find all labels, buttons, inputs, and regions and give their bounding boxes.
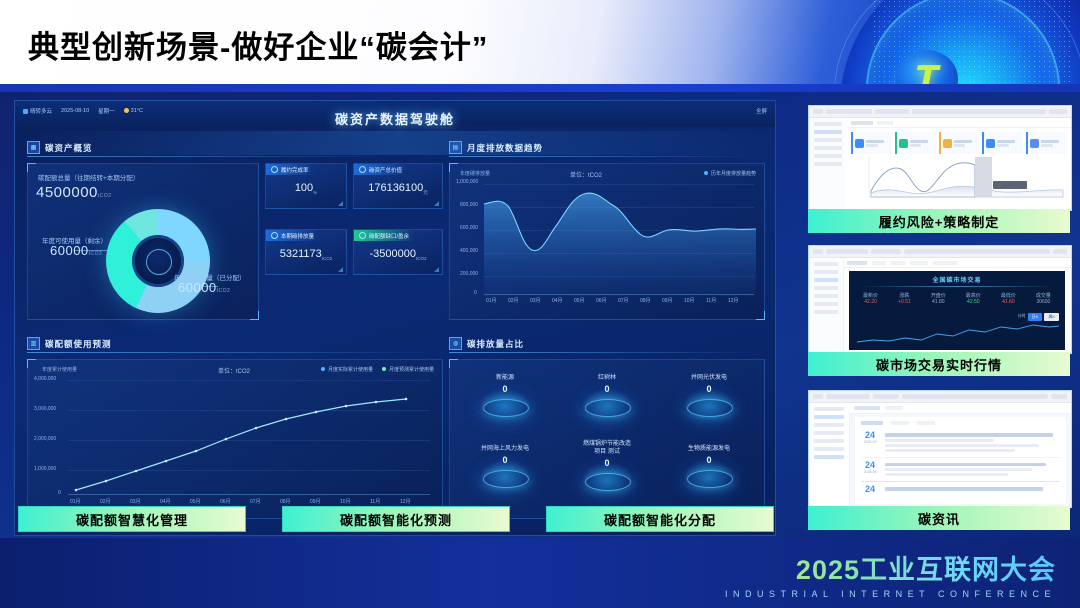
emission-legend: 历年月度排放量趋势 (704, 170, 756, 177)
caption-bar-2: 碳配额智能化分配 (546, 506, 774, 532)
gauge-1[interactable]: 红树林 0 (570, 374, 644, 434)
grid-icon: ▦ (27, 141, 40, 154)
pie-icon: ◍ (449, 337, 462, 350)
quota-left-value: 60000tCO2 (50, 243, 102, 258)
kpi-value-3: -3500000tCO2 (354, 248, 442, 261)
right-caption-news: 碳资讯 (808, 506, 1070, 530)
browser-chrome-market (809, 246, 1071, 258)
news-item[interactable]: 24 2025-08 (861, 428, 1060, 458)
emission-area-path (484, 184, 756, 296)
kpi-tag-0: 履约完成率 (266, 164, 314, 175)
gauge-4[interactable]: 燃煤锅炉节能改造 项目 测试 0 (570, 440, 644, 500)
dashboard-title: 碳资产数据驾驶舱 (15, 109, 775, 128)
browser-chrome-news (809, 391, 1071, 403)
right-card-risk (808, 105, 1072, 211)
market-trade-panel: 全国碳市场交易 最新价42.20 涨跌+0.51 开盘价41.80 最高价42.… (849, 271, 1065, 350)
mini-sidebar-market[interactable] (809, 258, 844, 354)
gauge-3[interactable]: 并网海上风力发电 0 (468, 445, 542, 505)
panel-title-overview: 碳资产概览 (45, 142, 93, 154)
dashboard-header-glow (15, 131, 775, 155)
kpi-card-3[interactable]: 碳配额缺口/盈余 -3500000tCO2 (353, 229, 443, 275)
forecast-axis-label: 年度累计使用量 (42, 366, 77, 373)
forecast-icon: ▥ (27, 337, 40, 350)
forecast-line-path (68, 380, 432, 496)
panel-title-emission: 月度排放数据趋势 (467, 142, 543, 154)
market-panel-title: 全国碳市场交易 (849, 271, 1065, 284)
emission-axis-label: 年度碳排放量 (460, 170, 490, 177)
browser-chrome-risk (809, 106, 1071, 118)
news-item[interactable]: 24 (861, 482, 1060, 497)
kpi-card-2[interactable]: 本期碳排放量 5321173tCO2 (265, 229, 347, 275)
quota-right-value: 60000tCO2 (178, 280, 230, 295)
quota-total-label: 碳配额总量（往期结转+本期分配） (38, 172, 139, 182)
carbon-dashboard-screenshot: 晴转多云 2025-08-10 星期一 31°C 全屏 碳资产数据驾驶舱 ▦ 碳… (14, 100, 776, 536)
conference-logo-title: 2025工业互联网大会 (725, 548, 1056, 587)
emission-trend-chart: 年度碳排放量 单位：tCO2 历年月度排放量趋势 1,000,000 800,0… (449, 163, 765, 320)
kpi-card-0[interactable]: 履约完成率 100% (265, 163, 347, 209)
quota-total-value: 4500000tCO2 (36, 184, 112, 201)
right-caption-market: 碳市场交易实时行情 (808, 352, 1070, 376)
header-tech-graphic: T (620, 0, 1080, 92)
panel-header-emission: ▤ 月度排放数据趋势 (449, 141, 543, 154)
gauge-0[interactable]: 新能源 0 (468, 374, 542, 434)
right-caption-risk: 履约风险+策略制定 (808, 209, 1070, 233)
quota-forecast-chart: 年度累计使用量 单位：tCO2 月度实际累计使用量 月度预测累计使用量 4,00… (27, 359, 443, 519)
emission-unit-label: 单位：tCO2 (570, 170, 602, 179)
conference-logo: 2025工业互联网大会 INDUSTRIAL INTERNET CONFEREN… (725, 548, 1056, 599)
news-list: 24 2025-08 24 2025-08 24 (855, 417, 1066, 504)
forecast-legend: 月度实际累计使用量 月度预测累计使用量 (321, 366, 434, 373)
kpi-value-1: 176136100元 (354, 182, 442, 196)
panel-header-allocation: ◍ 碳排放量占比 (449, 337, 524, 350)
panel-title-allocation: 碳排放量占比 (467, 338, 524, 350)
kpi-card-1[interactable]: 碳资产总价值 176136100元 (353, 163, 443, 209)
caption-bar-0: 碳配额智慧化管理 (18, 506, 246, 532)
right-card-news: 24 2025-08 24 2025-08 24 (808, 390, 1072, 508)
mini-sidebar-risk[interactable] (809, 118, 848, 211)
caption-bar-1: 碳配额智能化预测 (282, 506, 510, 532)
right-card-market: 全国碳市场交易 最新价42.20 涨跌+0.51 开盘价41.80 最高价42.… (808, 245, 1072, 354)
quota-donut-chart (106, 209, 210, 313)
conference-logo-subtitle: INDUSTRIAL INTERNET CONFERENCE (725, 589, 1056, 599)
forecast-unit-label: 单位：tCO2 (218, 366, 250, 375)
chart-icon: ▤ (449, 141, 462, 154)
slide-header: T 典型创新场景-做好企业“碳会计” (0, 0, 1080, 92)
kpi-value-2: 5321173tCO2 (266, 248, 346, 261)
panel-title-forecast: 碳配额使用预测 (45, 338, 112, 350)
quota-total-card: 碳配额总量（往期结转+本期分配） 4500000tCO2 年度可使用量（剩余） … (27, 163, 259, 320)
panel-header-forecast: ▥ 碳配额使用预测 (27, 337, 112, 350)
news-item[interactable]: 24 2025-08 (861, 458, 1060, 483)
allocation-gauges: 新能源 0 红树林 0 并网光伏发电 0 并网海上风力发电 0 燃煤锅炉节能改造… (449, 359, 765, 519)
panel-header-overview: ▦ 碳资产概览 (27, 141, 93, 154)
header-blue-band (0, 84, 1080, 92)
gauge-5[interactable]: 生物质能源发电 0 (672, 445, 746, 505)
kpi-tag-1: 碳资产总价值 (354, 164, 407, 175)
risk-area-chart (847, 151, 1071, 203)
gauge-2[interactable]: 并网光伏发电 0 (672, 374, 746, 434)
kpi-tag-3: 碳配额缺口/盈余 (354, 230, 414, 241)
kpi-value-0: 100% (266, 182, 346, 195)
kpi-tag-2: 本期碳排放量 (266, 230, 319, 241)
page-title: 典型创新场景-做好企业“碳会计” (28, 22, 488, 67)
slide-page: T 典型创新场景-做好企业“碳会计” 工业互联网产业联盟 Alliance of… (0, 0, 1080, 608)
mini-sidebar-news[interactable] (809, 403, 850, 508)
